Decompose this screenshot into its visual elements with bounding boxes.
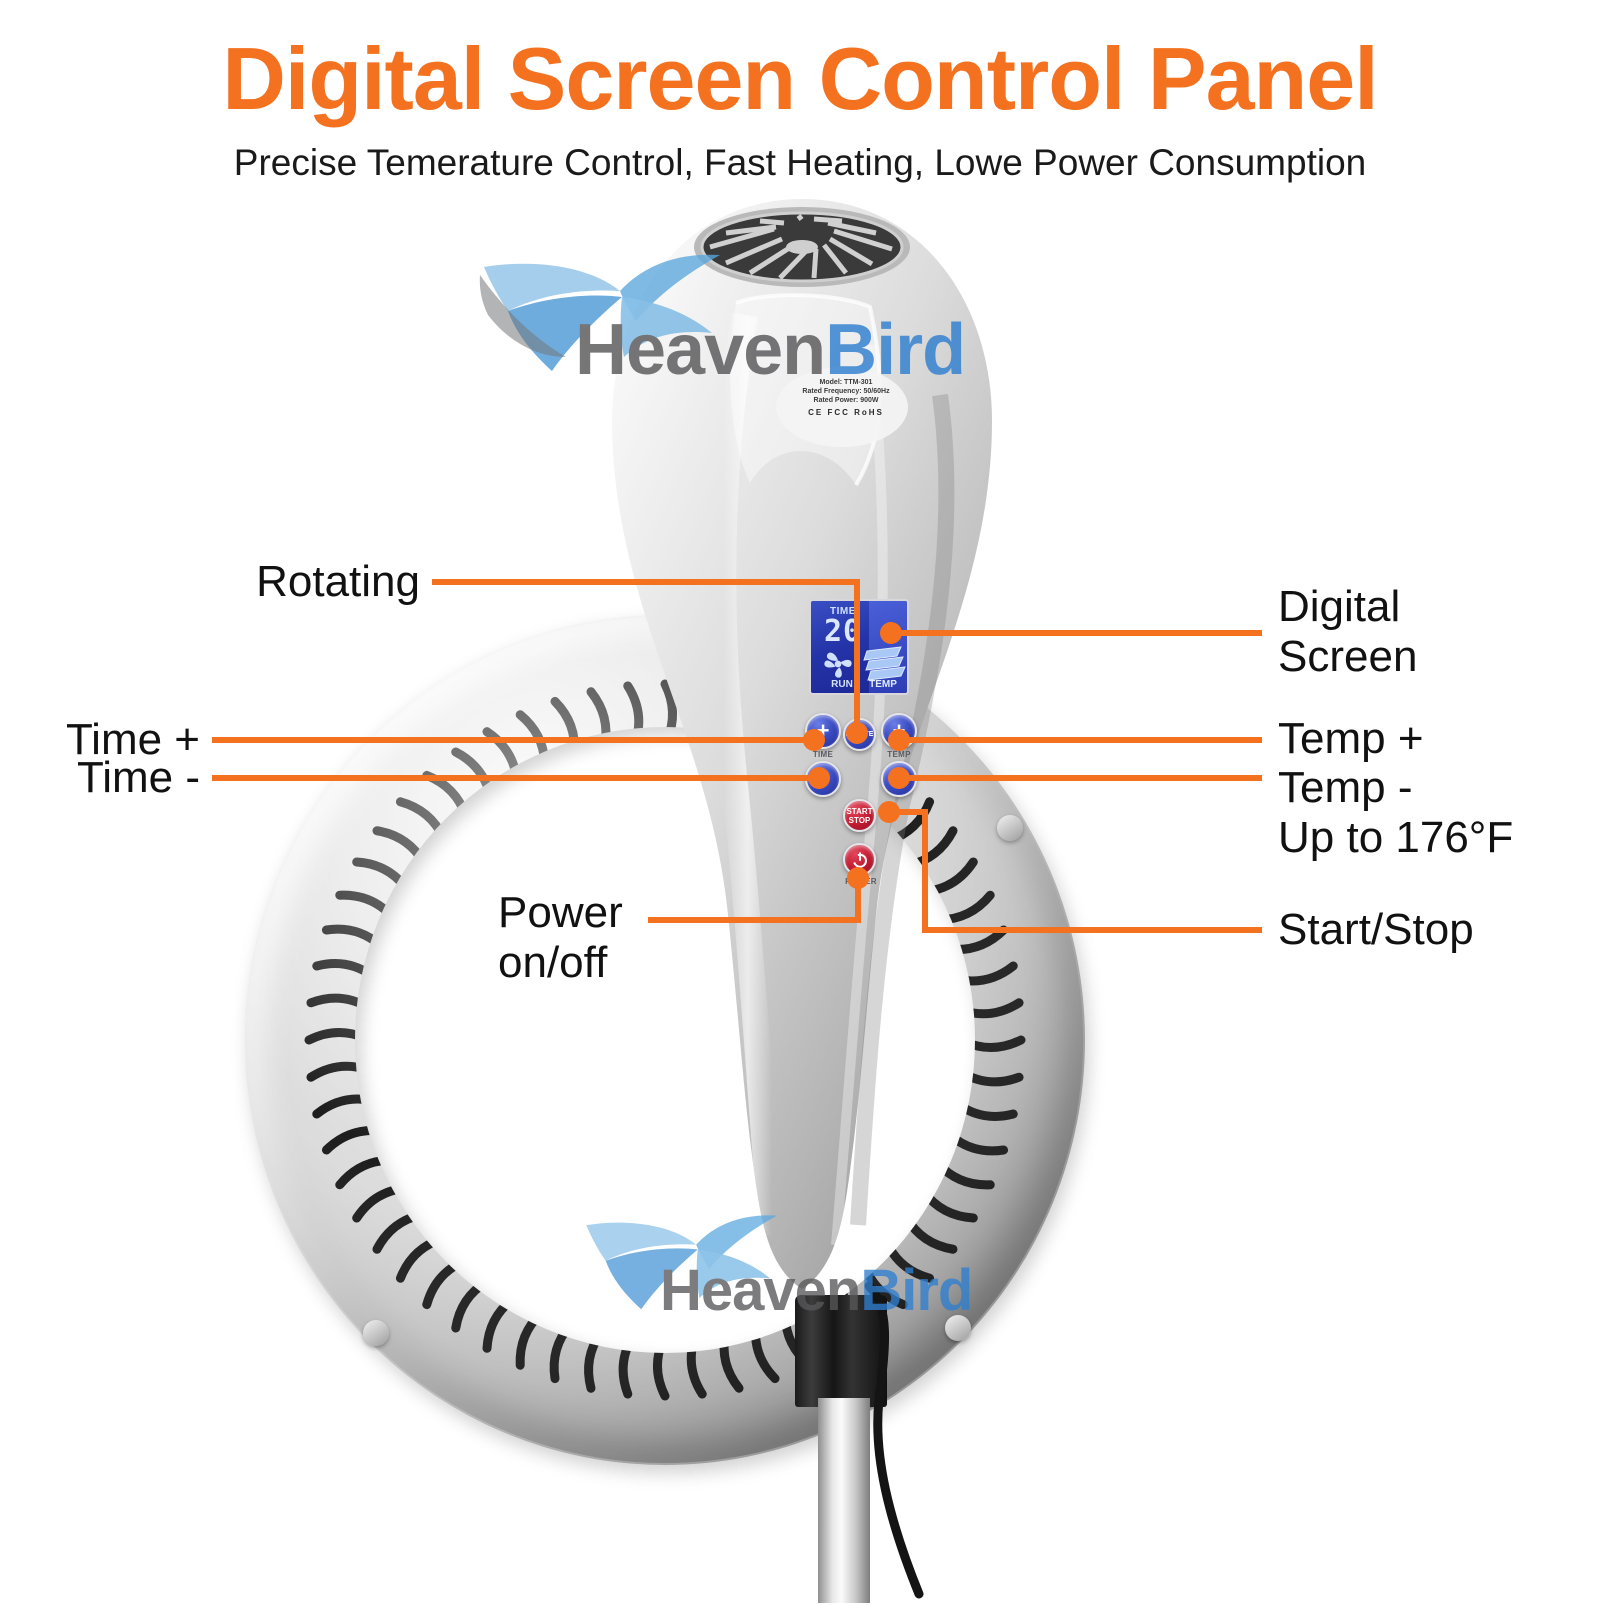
infographic-canvas: Digital Screen Control Panel Precise Tem… <box>0 0 1600 1600</box>
callout-dot-temp-minus <box>888 767 910 789</box>
callout-label-start-stop: Start/Stop <box>1278 905 1474 955</box>
callout-label-rotating: Rotating <box>120 557 420 607</box>
callout-line-power <box>648 880 858 920</box>
callout-dot-time-plus <box>803 729 825 751</box>
callout-label-digital-screen: Digital Screen <box>1278 582 1417 682</box>
callout-line-rotating <box>432 582 857 733</box>
callout-label-time-minus: Time - <box>0 753 200 803</box>
callout-dot-time-minus <box>808 767 830 789</box>
callout-label-temp-range: Up to 176°F <box>1278 813 1513 863</box>
callout-dot-temp-plus <box>888 729 910 751</box>
callout-dot-power <box>847 867 869 889</box>
callout-label-power: Power on/off <box>498 888 623 988</box>
callout-label-power-line2: on/off <box>498 938 623 988</box>
callout-label-digital-screen-line1: Digital <box>1278 582 1417 632</box>
callout-label-temp-plus: Temp + <box>1278 714 1424 764</box>
callout-label-temp-minus: Temp - <box>1278 763 1412 813</box>
callout-label-digital-screen-line2: Screen <box>1278 632 1417 682</box>
callout-dot-start-stop <box>878 801 900 823</box>
callout-dot-digital-screen <box>880 622 902 644</box>
callout-dot-rotating <box>846 722 868 744</box>
callout-line-start-stop <box>884 812 1262 930</box>
callout-label-power-line1: Power <box>498 888 623 938</box>
